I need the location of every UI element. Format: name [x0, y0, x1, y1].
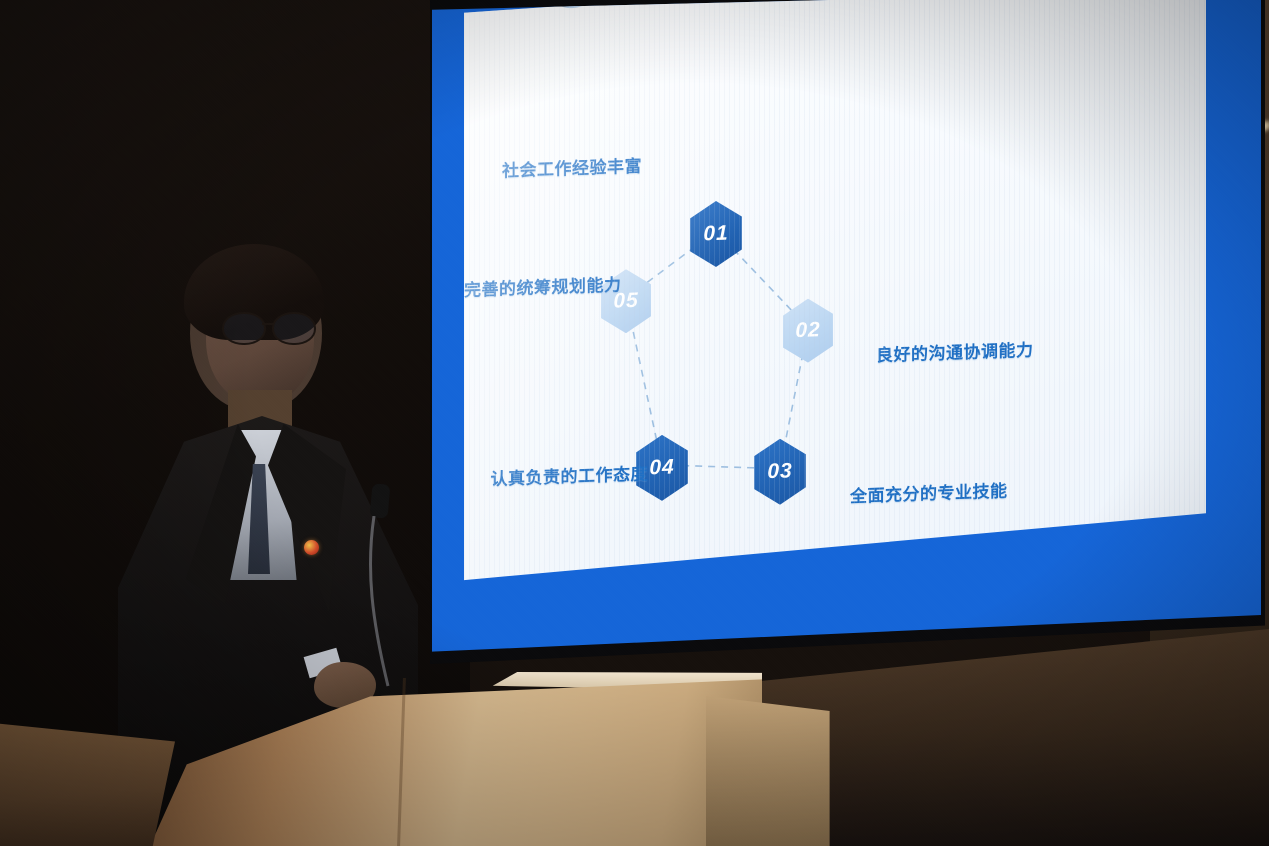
lens-right: [272, 312, 316, 345]
lens-left: [222, 312, 266, 345]
eyeglasses-icon: [222, 312, 318, 342]
lectern: [150, 672, 762, 846]
glasses-bridge: [262, 323, 274, 325]
pentagon-diagram: 01社会工作经验丰富02良好的沟通协调能力03全面充分的专业技能04认真负责的工…: [464, 0, 1206, 608]
pentagon-label-05: 完善的统筹规划能力: [464, 271, 612, 301]
slide-content: 1903 竞选优势: [464, 0, 1206, 608]
microphone-gooseneck-icon: [352, 516, 398, 688]
party-emblem-pin-icon: [304, 540, 319, 555]
lectern-front-panel: [150, 676, 762, 846]
screen-blue-border: 1903 竞选优势: [432, 0, 1261, 668]
microphone-capsule-icon: [370, 483, 391, 518]
presentation-room-scene: 1903 竞选优势: [0, 0, 1269, 846]
pentagon-connector-lines: [464, 0, 1206, 608]
projection-screen[interactable]: 1903 竞选优势: [430, 0, 1265, 678]
slide-canvas: 1903 竞选优势: [464, 0, 1206, 608]
